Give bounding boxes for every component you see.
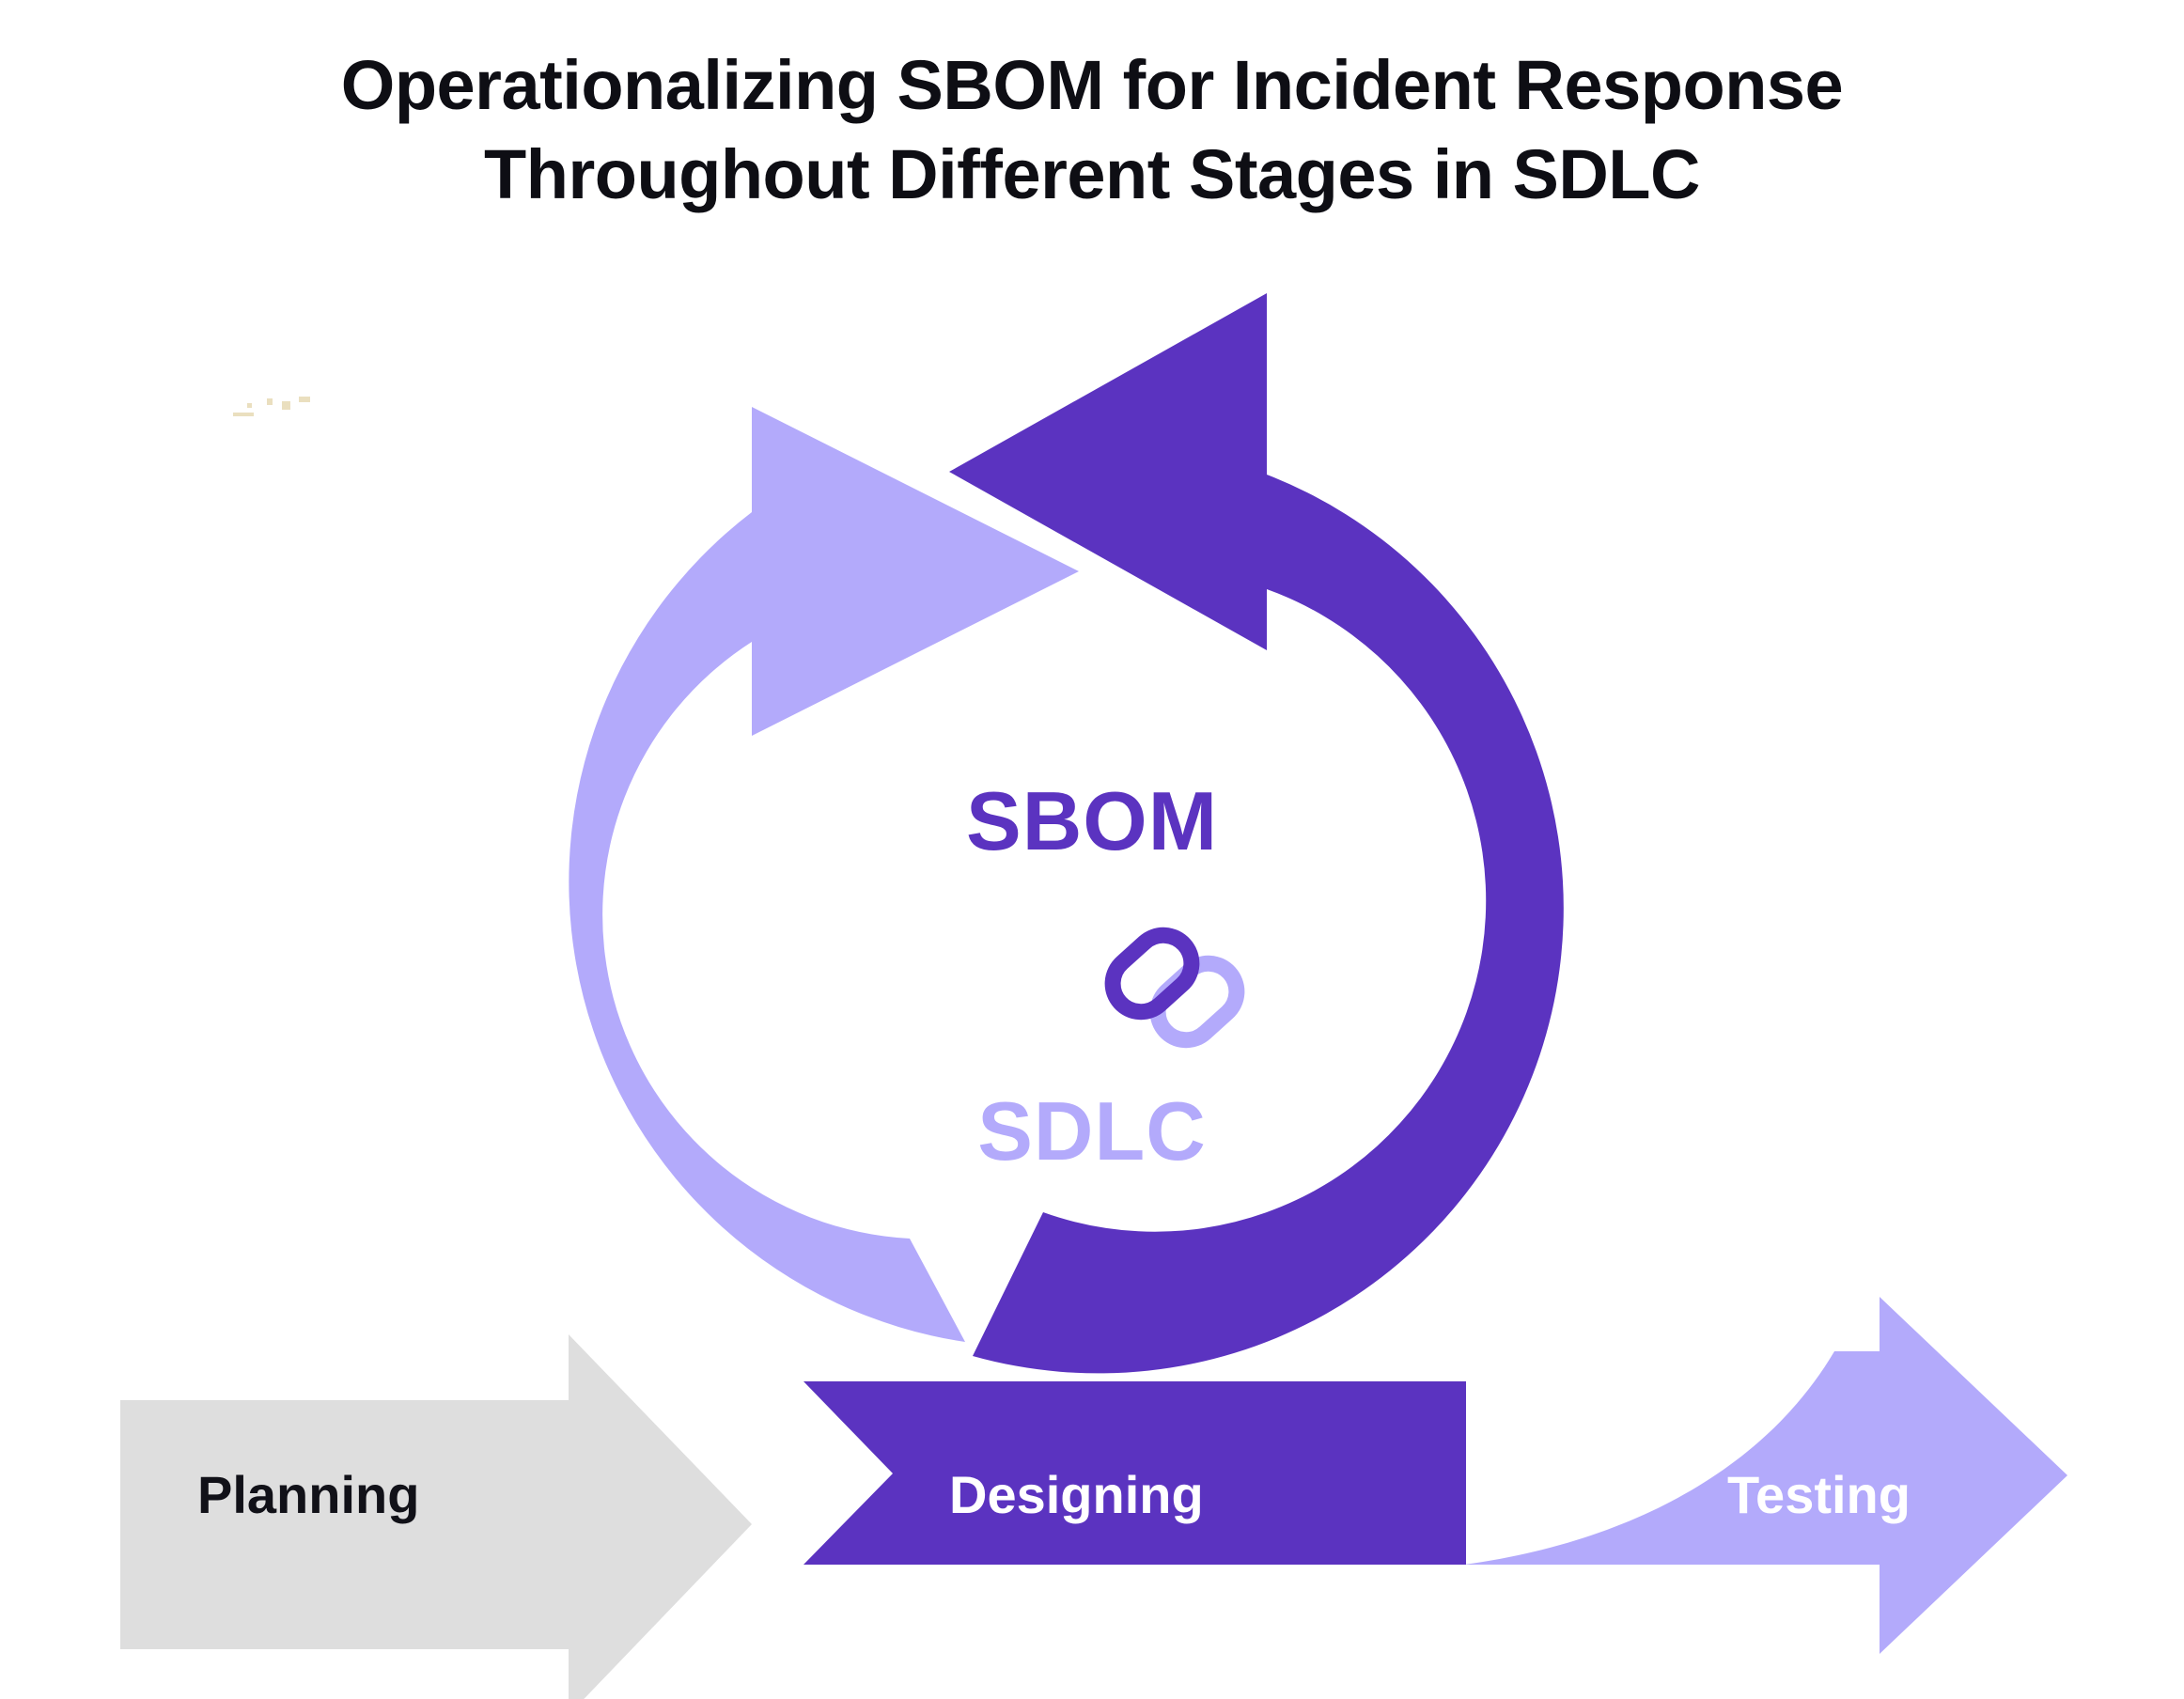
- cycle-arrow-sbom-dark[interactable]: [949, 293, 1564, 1373]
- stage-arrow-designing[interactable]: [803, 1381, 1466, 1565]
- sbom-sdlc-cycle-diagram: [0, 0, 2184, 1699]
- stage-arrow-planning[interactable]: [120, 1334, 752, 1699]
- stage-arrow-testing[interactable]: [1464, 1297, 2067, 1654]
- link-chain-icon: [1092, 921, 1257, 1054]
- cycle-arrow-sdlc-light[interactable]: [569, 407, 1079, 1342]
- diagram-canvas: Operationalizing SBOM for Incident Respo…: [0, 0, 2184, 1699]
